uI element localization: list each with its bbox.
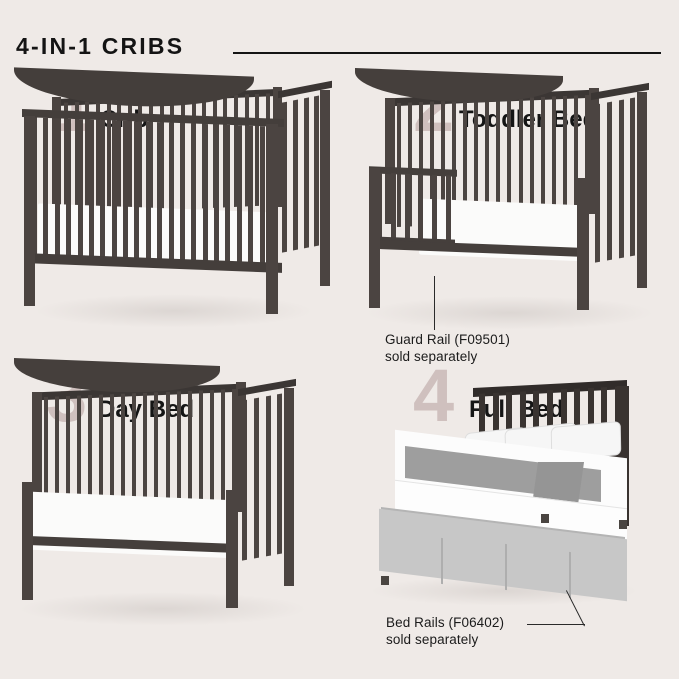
- guard-rail-callout-line1: Guard Rail (F09501): [385, 332, 510, 349]
- toddler-front-right-leg: [577, 178, 589, 310]
- crib-illustration: [14, 72, 344, 362]
- daybed-back-right-leg: [284, 388, 294, 586]
- header-rule: [233, 52, 661, 54]
- page-title: 4-IN-1 CRIBS: [16, 33, 184, 60]
- bed-foot: [619, 520, 627, 529]
- crib-front-right-leg: [266, 124, 278, 314]
- bed-foot: [381, 576, 389, 585]
- step-panel-crib: 1 Crib: [14, 72, 344, 362]
- crib-back-right-leg: [320, 90, 330, 286]
- bed-skirt-pleat: [441, 538, 443, 584]
- step-panel-toddler-bed: 2 Toddler Bed: [355, 72, 679, 362]
- guard-rail-callout: Guard Rail (F09501) sold separately: [385, 332, 510, 366]
- day-bed-illustration: [14, 362, 344, 652]
- crib-front-left-leg: [24, 116, 35, 306]
- bed-foot: [541, 514, 549, 523]
- bed-rails-callout: Bed Rails (F06402) sold separately: [386, 615, 504, 649]
- toddler-back-right-leg: [637, 92, 647, 288]
- toddler-bed-illustration: [355, 72, 679, 362]
- bed-skirt-pleat: [569, 552, 571, 598]
- full-bed-illustration: [355, 362, 679, 652]
- guard-rail-leader-line: [434, 276, 435, 330]
- daybed-front-right-leg: [226, 490, 238, 608]
- bed-skirt-pleat: [505, 544, 507, 590]
- bed-rails-callout-line1: Bed Rails (F06402): [386, 615, 504, 632]
- toddler-front-left-leg: [369, 168, 380, 308]
- guard-rail-callout-line2: sold separately: [385, 349, 510, 366]
- step-panel-day-bed: 3 Day Bed: [14, 362, 344, 652]
- step-panel-full-bed: 4 Full Bed: [355, 362, 679, 652]
- guard-rail-slats: [377, 173, 451, 244]
- bed-rails-leader-line-horizontal: [527, 624, 585, 625]
- bed-rails-callout-line2: sold separately: [386, 632, 504, 649]
- crib-front-slats: [32, 117, 276, 266]
- product-infographic: 4-IN-1 CRIBS 1 Crib: [0, 0, 679, 679]
- daybed-front-left-leg: [22, 482, 33, 600]
